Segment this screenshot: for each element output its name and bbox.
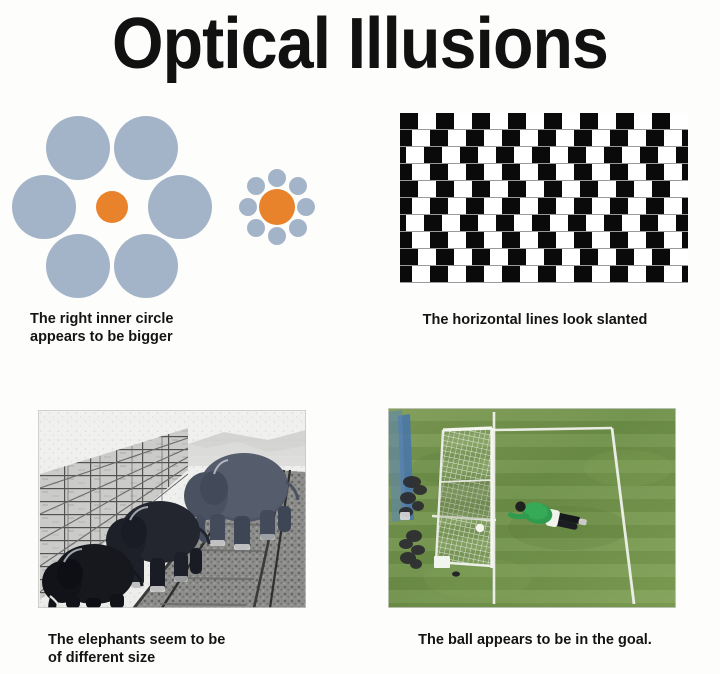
left-outer-circle-6 [114, 234, 178, 298]
right-outer-circle-3 [297, 198, 315, 216]
cafe-wall-square [424, 215, 442, 231]
cafe-wall-square [610, 164, 628, 180]
cafe-wall-square [640, 215, 658, 231]
cafe-wall-square [466, 164, 484, 180]
cafe-wall-square [502, 164, 520, 180]
right-outer-circle-8 [247, 177, 265, 195]
cafe-wall-square [496, 215, 514, 231]
cafe-wall-row [400, 232, 688, 249]
cafe-wall-square [502, 198, 520, 214]
cafe-wall-square [436, 113, 454, 129]
cafe-wall-square [682, 130, 688, 146]
cafe-wall-square [682, 198, 688, 214]
cafe-wall-square [682, 164, 688, 180]
cafe-wall-row [400, 249, 688, 266]
goal-net [436, 428, 492, 568]
caption-cafe-wall: The horizontal lines look slanted [360, 311, 710, 329]
cafe-wall-square [610, 232, 628, 248]
cafe-wall-square [544, 113, 562, 129]
cafe-wall-square [430, 198, 448, 214]
right-inner-circle [259, 189, 295, 225]
right-outer-circle-4 [289, 219, 307, 237]
cafe-wall-square [580, 249, 598, 265]
cafe-wall-square [466, 198, 484, 214]
cafe-wall-square [538, 198, 556, 214]
cafe-wall-square [532, 215, 550, 231]
cafe-wall-square [400, 215, 406, 231]
cafe-wall-square [400, 164, 412, 180]
cafe-wall-row [400, 181, 688, 198]
cafe-wall-square [646, 266, 664, 282]
cafe-wall-square [676, 215, 688, 231]
cafe-wall-square [436, 181, 454, 197]
right-outer-circle-6 [247, 219, 265, 237]
cafe-wall-square [574, 130, 592, 146]
cafe-wall-square [640, 147, 658, 163]
cafe-wall-square [604, 147, 622, 163]
cafe-wall-square [400, 113, 418, 129]
cafe-wall-square [682, 232, 688, 248]
cafe-wall-square [616, 249, 634, 265]
cafe-wall-square [460, 215, 478, 231]
cafe-wall-square [616, 181, 634, 197]
ponzo-elephants-illusion-figure [38, 410, 306, 608]
football-goal-illusion-figure [388, 408, 676, 608]
cafe-wall-square [676, 147, 688, 163]
cafe-wall-row [400, 130, 688, 147]
cafe-wall-square [502, 266, 520, 282]
football-ball [476, 524, 484, 532]
cafe-wall-row [400, 147, 688, 164]
cafe-wall-square [400, 147, 406, 163]
cafe-wall-square [616, 113, 634, 129]
cafe-wall-illusion-figure [400, 113, 688, 285]
cafe-wall-square [610, 198, 628, 214]
cafe-wall-square [430, 266, 448, 282]
ebbinghaus-illusion-figure [0, 100, 360, 300]
cafe-wall-square [400, 130, 412, 146]
right-outer-circle-2 [289, 177, 307, 195]
caption-elephants: The elephants seem to be of different si… [48, 631, 225, 667]
left-outer-circle-3 [12, 175, 76, 239]
cafe-wall-row [400, 266, 688, 283]
cafe-wall-square [574, 266, 592, 282]
cafe-wall-square [538, 130, 556, 146]
cafe-wall-square [502, 232, 520, 248]
left-outer-circle-4 [148, 175, 212, 239]
cafe-wall-square [646, 130, 664, 146]
cafe-wall-square [568, 147, 586, 163]
cafe-wall-square [604, 215, 622, 231]
cafe-wall-row [400, 198, 688, 215]
cafe-wall-square [544, 249, 562, 265]
cafe-wall-square [424, 147, 442, 163]
cafe-wall-square [430, 164, 448, 180]
cafe-wall-square [400, 232, 412, 248]
goal-aerial-photo [388, 408, 676, 608]
cafe-wall-square [472, 181, 490, 197]
cafe-wall-square [682, 266, 688, 282]
cafe-wall-square [466, 130, 484, 146]
cafe-wall-square [436, 249, 454, 265]
left-inner-circle [96, 191, 128, 223]
cafe-wall-square [610, 266, 628, 282]
cafe-wall-square [580, 181, 598, 197]
cafe-wall-row [400, 113, 688, 130]
cafe-wall-square [574, 232, 592, 248]
cafe-wall-square [472, 249, 490, 265]
optical-illusions-poster: Optical Illusions [0, 0, 720, 674]
cafe-wall-square [400, 198, 412, 214]
cafe-wall-square [466, 266, 484, 282]
left-outer-circle-5 [46, 234, 110, 298]
cafe-wall-square [646, 198, 664, 214]
cafe-wall-square [532, 147, 550, 163]
cafe-wall-square [460, 147, 478, 163]
cafe-wall-square [466, 232, 484, 248]
right-outer-circle-5 [268, 227, 286, 245]
right-outer-circle-7 [239, 198, 257, 216]
cafe-wall-square [652, 249, 670, 265]
cafe-wall-square [538, 266, 556, 282]
cafe-wall-square [652, 181, 670, 197]
cafe-wall-square [538, 232, 556, 248]
cafe-wall-square [508, 181, 526, 197]
cafe-wall-square [544, 181, 562, 197]
cafe-wall-square [502, 130, 520, 146]
elephants-engraving [38, 410, 306, 608]
cafe-wall-square [652, 113, 670, 129]
cafe-wall-row [400, 164, 688, 181]
cafe-wall-square [574, 164, 592, 180]
cafe-wall-square [508, 113, 526, 129]
cafe-wall-square [610, 130, 628, 146]
cafe-wall-square [580, 113, 598, 129]
caption-goal: The ball appears to be in the goal. [360, 631, 710, 649]
right-outer-circle-1 [268, 169, 286, 187]
caption-ebbinghaus: The right inner circle appears to be big… [30, 310, 173, 346]
cafe-wall-square [574, 198, 592, 214]
cafe-wall-square [538, 164, 556, 180]
left-outer-circle-1 [46, 116, 110, 180]
cafe-wall-square [508, 249, 526, 265]
cafe-wall-square [400, 181, 418, 197]
cafe-wall-square [496, 147, 514, 163]
cafe-wall-square [472, 113, 490, 129]
cafe-wall-square [568, 215, 586, 231]
left-outer-circle-2 [114, 116, 178, 180]
cafe-wall-square [400, 266, 412, 282]
cafe-wall-square [646, 232, 664, 248]
cafe-wall-square [430, 130, 448, 146]
cafe-wall-square [430, 232, 448, 248]
cafe-wall-square [646, 164, 664, 180]
cafe-wall-square [400, 249, 418, 265]
page-title: Optical Illusions [29, 4, 691, 84]
cafe-wall-row [400, 215, 688, 232]
